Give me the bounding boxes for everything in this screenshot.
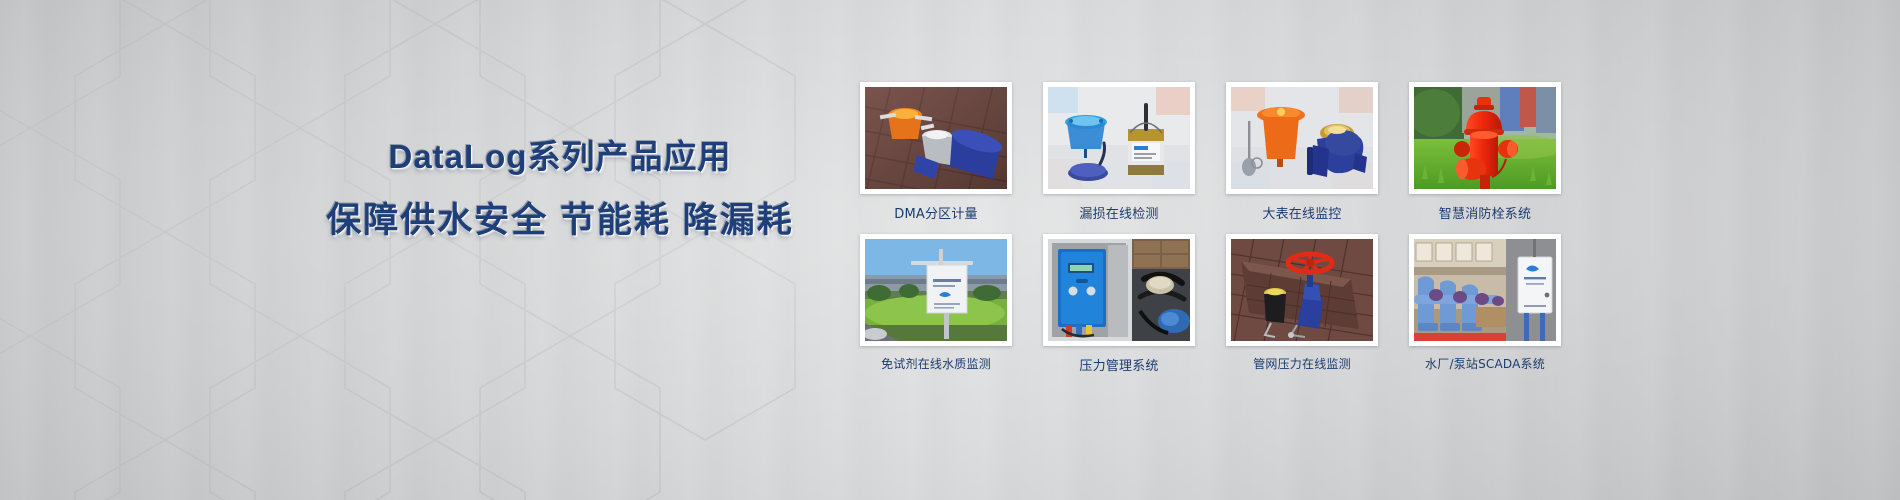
photo-pipe-pressure-valve (1231, 239, 1373, 341)
product-thumbnail-frame[interactable] (1043, 82, 1195, 194)
product-label: DMA分区计量 (860, 203, 1012, 222)
photo-dma-metering (865, 87, 1007, 189)
product-card-large-meter-monitoring[interactable]: 大表在线监控 (1226, 82, 1378, 222)
photo-pump-station-scada (1414, 239, 1556, 341)
product-card-dma-metering[interactable]: DMA分区计量 (860, 82, 1012, 222)
product-label: 压力管理系统 (1043, 355, 1195, 374)
product-thumbnail-frame[interactable] (1409, 82, 1561, 194)
product-thumbnail-frame[interactable] (860, 82, 1012, 194)
promo-banner: DataLog系列产品应用 保障供水安全 节能耗 降漏耗 (0, 0, 1900, 500)
product-card-leak-online-detection[interactable]: 漏损在线检测 (1043, 82, 1195, 222)
product-thumbnail-frame[interactable] (860, 234, 1012, 346)
product-thumbnail-frame[interactable] (1043, 234, 1195, 346)
photo-leak-detection (1048, 87, 1190, 189)
product-label: 管网压力在线监测 (1226, 355, 1378, 372)
headline-block: DataLog系列产品应用 保障供水安全 节能耗 降漏耗 (250, 140, 870, 238)
product-label: 水厂/泵站SCADA系统 (1409, 355, 1561, 372)
product-label: 漏损在线检测 (1043, 203, 1195, 222)
headline-line-secondary: 保障供水安全 节能耗 降漏耗 (250, 203, 870, 238)
hexagon-watermark (0, 0, 820, 500)
product-thumbnail-frame[interactable] (1409, 234, 1561, 346)
product-card-scada-system[interactable]: 水厂/泵站SCADA系统 (1409, 234, 1561, 374)
photo-water-quality-station (865, 239, 1007, 341)
photo-fire-hydrant (1414, 87, 1556, 189)
product-card-pipe-network-pressure[interactable]: 管网压力在线监测 (1226, 234, 1378, 374)
product-label: 智慧消防栓系统 (1409, 203, 1561, 222)
product-thumbnail-frame[interactable] (1226, 82, 1378, 194)
photo-pressure-panel (1048, 239, 1190, 341)
product-thumbnail-frame[interactable] (1226, 234, 1378, 346)
product-grid: DMA分区计量 (860, 82, 1561, 374)
product-label: 免试剂在线水质监测 (860, 355, 1012, 372)
product-label: 大表在线监控 (1226, 203, 1378, 222)
photo-large-meter (1231, 87, 1373, 189)
headline-line-primary: DataLog系列产品应用 (250, 140, 870, 173)
product-card-reagent-free-water-quality[interactable]: 免试剂在线水质监测 (860, 234, 1012, 374)
product-card-pressure-management[interactable]: 压力管理系统 (1043, 234, 1195, 374)
product-card-smart-hydrant-system[interactable]: 智慧消防栓系统 (1409, 82, 1561, 222)
